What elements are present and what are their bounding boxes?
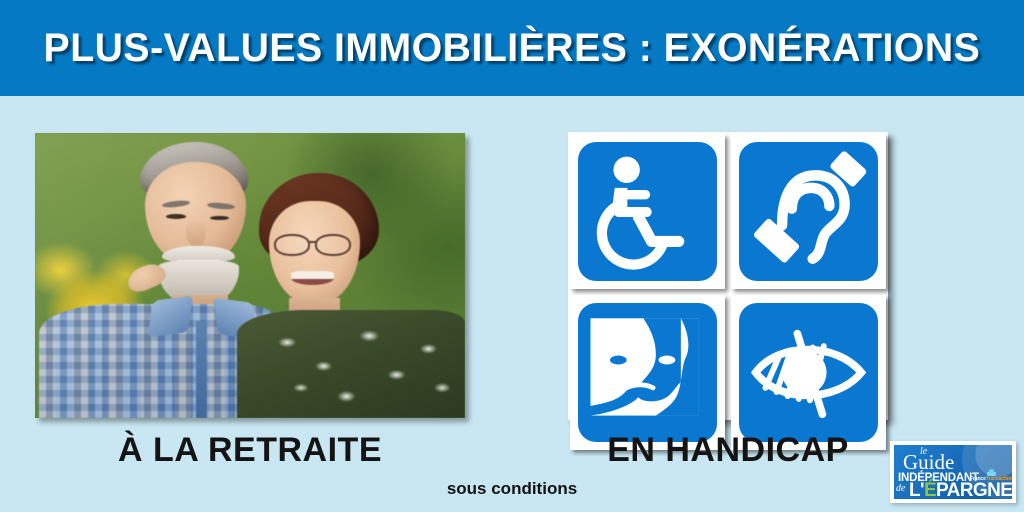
man-eye-left <box>166 214 186 219</box>
caption-retirement: À LA RETRAITE <box>35 431 465 470</box>
content-stage: À LA RETRAITE <box>0 96 1024 512</box>
woman-eyeglass-bridge <box>309 241 316 246</box>
logo-epargne-suffix: PARGNE <box>936 480 1012 499</box>
logo-canvas: le Guide INDÉPENDANT FranceTransactions.… <box>894 445 1012 499</box>
retirement-photo <box>35 133 465 418</box>
logo-epargne: L'ÉPARGNE <box>909 481 1012 499</box>
speech-faces-tile <box>570 295 725 450</box>
caption-handicap: EN HANDICAP <box>568 431 888 470</box>
header-banner: PLUS-VALUES IMMOBILIÈRES : EXONÉRATIONS <box>0 0 1024 96</box>
wheelchair-accessibility-tile <box>570 134 725 289</box>
woman-eyeglass-right <box>315 234 352 255</box>
wheelchair-accessibility-icon <box>578 142 717 281</box>
publisher-logo[interactable]: le Guide INDÉPENDANT FranceTransactions.… <box>890 441 1016 503</box>
footnote-conditions: sous conditions <box>0 479 1024 499</box>
man-shirt-placket <box>196 321 206 418</box>
france-transactions-icon <box>987 469 996 476</box>
man-nose <box>186 219 206 248</box>
photo-background-garden <box>35 133 465 418</box>
low-vision-eye-tile <box>731 295 886 450</box>
woman-floral-blouse <box>237 310 465 418</box>
logo-epargne-prefix: L' <box>909 480 924 499</box>
low-vision-eye-icon <box>739 303 878 442</box>
deaf-ear-tile <box>731 134 886 289</box>
woman-teeth <box>291 271 334 279</box>
logo-guide: Guide <box>903 452 954 473</box>
deaf-ear-icon <box>739 142 878 281</box>
handicap-icon-panel <box>568 132 888 420</box>
logo-epargne-accent: É <box>924 480 936 499</box>
woman-eyeglass-left <box>274 234 311 255</box>
page-title: PLUS-VALUES IMMOBILIÈRES : EXONÉRATIONS <box>44 26 981 71</box>
speech-faces-icon <box>578 303 717 442</box>
logo-de: de <box>896 483 905 494</box>
